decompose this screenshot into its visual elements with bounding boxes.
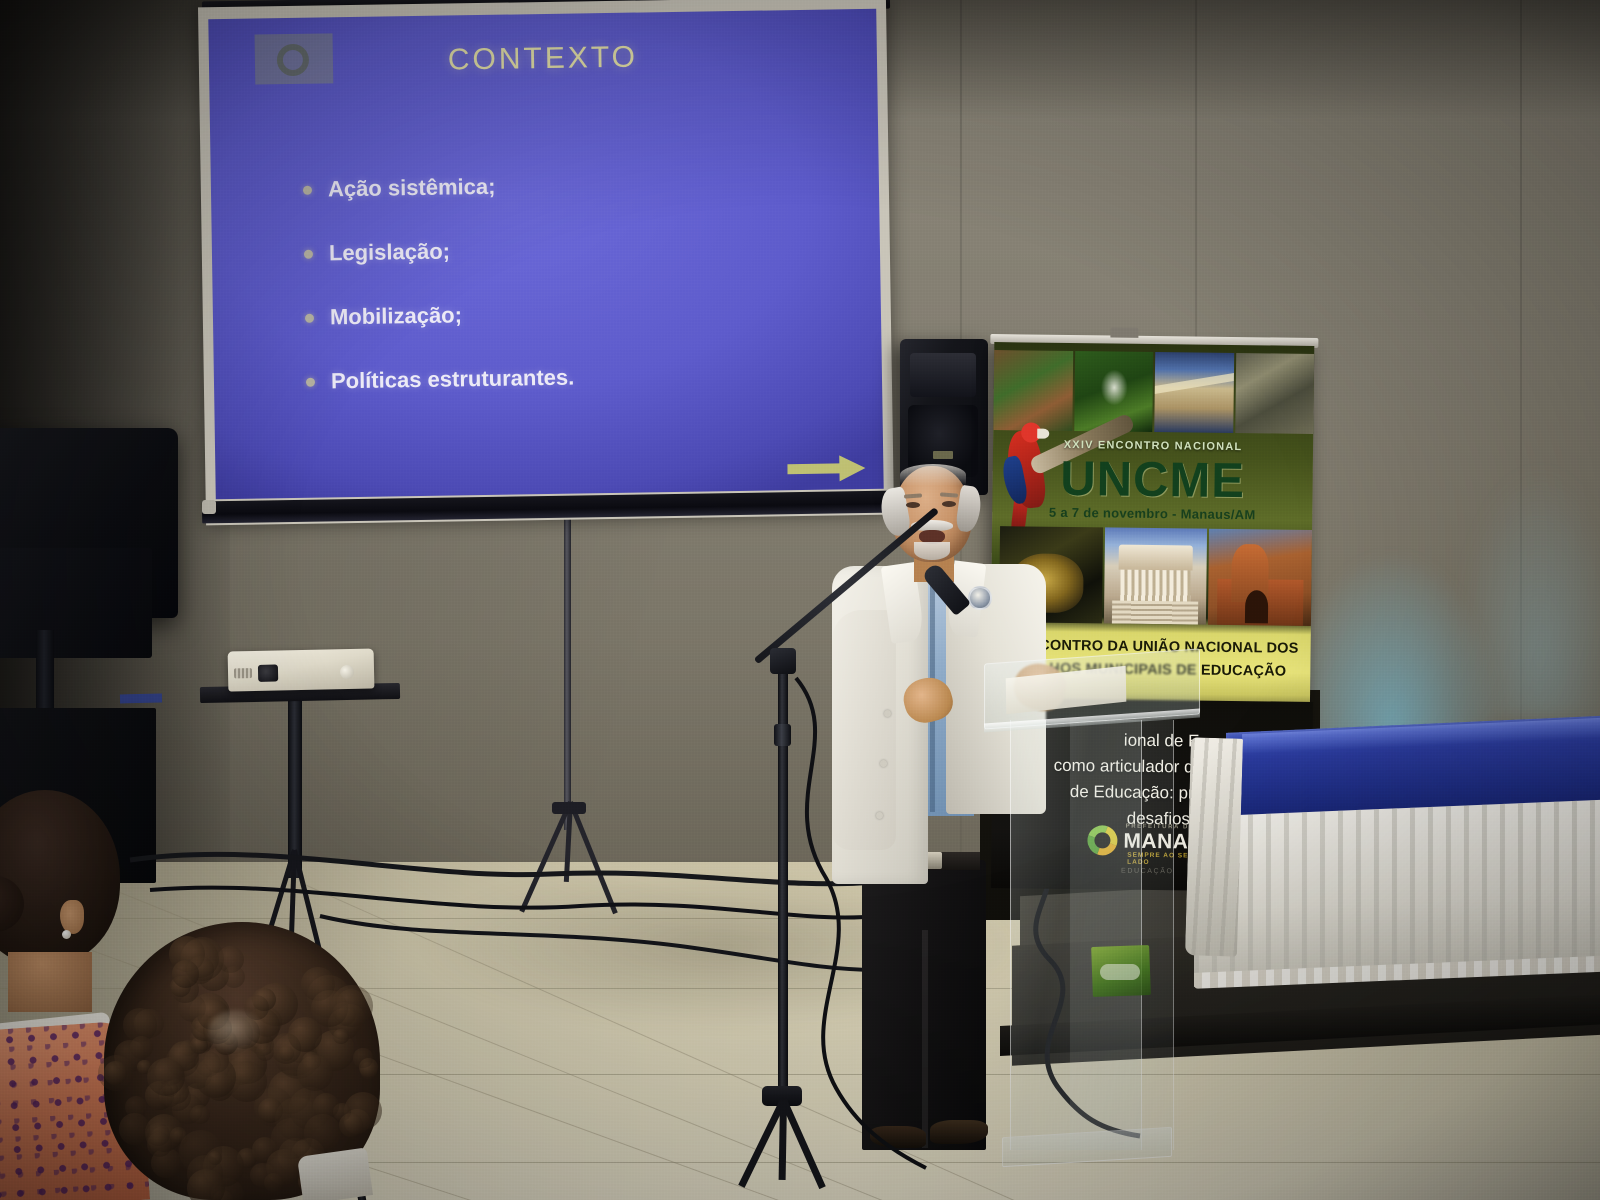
slide-bullet-label: Políticas estruturantes. [331,365,575,395]
colonial-church-photo [1208,529,1312,626]
hair-curl [172,960,199,987]
hair-curl [339,1113,363,1137]
slide-bullet-item: Legislação; [303,213,864,286]
slide-surface: CONTEXTO Ação sistêmica; Legislação; Mob… [208,9,883,499]
hair-curl [264,1173,284,1193]
projector-vent-icon [234,668,252,678]
bullet-dot-icon [303,185,312,194]
speaker-horn-icon [910,353,976,397]
projector-focus-knob[interactable] [340,665,354,679]
hair-curl [146,1123,170,1147]
projector [228,648,375,691]
lectern-shelf-item-label [1100,964,1140,980]
audience-member-foreground-center-collar [297,1147,373,1200]
slide-bullet-item: Ação sistêmica; [302,149,863,222]
slide-bullet-label: Legislação; [329,239,450,267]
hair-curl [195,1056,236,1097]
audience-ear [60,900,84,934]
boom-microphone-on-stand [736,548,996,1188]
speaker-stand-pole [36,630,54,720]
presenter-hair-top [900,464,966,486]
projector-lens-icon [258,664,278,681]
lectern-panel-front [1010,720,1142,1150]
acrylic-lectern [984,646,1204,1166]
earring-icon [62,930,71,939]
slide-bullet-item: Políticas estruturantes. [305,341,866,414]
draped-head-table [1182,716,1600,986]
river-beach-photo [1154,352,1233,433]
hair-curl [333,1029,349,1045]
hair-curl [190,1105,210,1125]
teatro-amazonas-photo [1104,527,1208,624]
slide-bullet-label: Ação sistêmica; [328,174,496,203]
slide-bullet-item: Mobilização; [304,277,865,350]
bullet-dot-icon [304,249,313,258]
bullet-dot-icon [306,377,315,386]
hair-curl [353,1048,372,1067]
speaker-brand-badge [933,451,953,459]
slide-bullet-label: Mobilização; [330,302,462,330]
screen-hem-knob [202,500,216,514]
pa-loudspeaker-left-mid [0,548,152,658]
screen-tripod-hub [552,802,586,814]
hair-curl [104,1061,128,1085]
hair-curl [304,1114,341,1151]
projector-blue-pad [120,694,162,704]
audience-neck [8,952,92,1012]
presenter-eye-left [906,502,920,508]
screen-tripod-pole [564,512,571,830]
aerial-city-photo [1235,353,1314,434]
hair-curl [271,1033,302,1064]
hair-curl [331,985,373,1027]
presenter-eye-right [942,501,956,507]
projection-screen-assembly: CONTEXTO Ação sistêmica; Legislação; Mob… [196,0,896,536]
hair-curl [223,966,245,988]
hair-curl [130,1036,153,1059]
mic-cable [736,548,996,1188]
sloth-photo [993,350,1072,431]
hair-curl [297,1055,333,1091]
slide-bullet-list: Ação sistêmica; Legislação; Mobilização;… [302,149,866,414]
presentation-room-photo: CONTEXTO Ação sistêmica; Legislação; Mob… [0,0,1600,1200]
banner-rail-clip [1110,327,1138,337]
hair-highlight [208,1010,264,1054]
hair-curl [119,1113,150,1144]
bullet-dot-icon [305,313,314,322]
